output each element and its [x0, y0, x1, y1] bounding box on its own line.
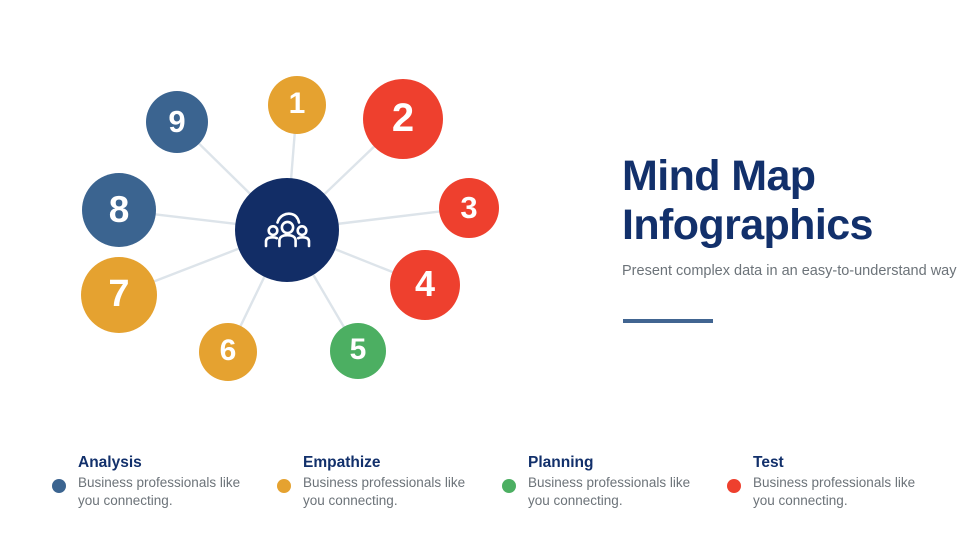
- mind-map-node-9[interactable]: 9: [146, 91, 208, 153]
- slide-canvas: 123456789 Mind Map Infographics Present …: [0, 0, 980, 551]
- legend-dot-icon: [502, 479, 516, 493]
- connector-line-7: [153, 248, 241, 282]
- page-subtitle: Present complex data in an easy-to-under…: [622, 262, 972, 281]
- connector-line-5: [312, 273, 345, 328]
- mind-map-node-5[interactable]: 5: [330, 323, 386, 379]
- node-number-label: 1: [289, 89, 306, 119]
- connector-line-1: [291, 132, 295, 180]
- mind-map-node-1[interactable]: 1: [268, 76, 326, 134]
- node-number-label: 8: [109, 191, 130, 228]
- mind-map-node-6[interactable]: 6: [199, 323, 257, 381]
- connector-line-4: [333, 249, 394, 273]
- page-title: Mind Map Infographics: [622, 152, 972, 250]
- legend-text-block: AnalysisBusiness professionals like you …: [78, 452, 243, 510]
- legend-text-block: TestBusiness professionals like you conn…: [753, 452, 918, 510]
- legend-item-test[interactable]: TestBusiness professionals like you conn…: [727, 452, 952, 510]
- legend-dot-icon: [727, 479, 741, 493]
- legend-text-block: EmpathizeBusiness professionals like you…: [303, 452, 468, 510]
- node-number-label: 2: [392, 98, 414, 138]
- mind-map-diagram: 123456789: [0, 0, 560, 420]
- title-line-1: Mind Map: [622, 152, 815, 200]
- people-group-icon: [261, 210, 313, 250]
- legend-description: Business professionals like you connecti…: [303, 474, 468, 510]
- node-number-label: 5: [350, 335, 367, 365]
- legend: AnalysisBusiness professionals like you …: [52, 452, 952, 510]
- node-number-label: 4: [415, 266, 435, 302]
- legend-title: Test: [753, 452, 918, 473]
- legend-title: Empathize: [303, 452, 468, 473]
- title-line-2: Infographics: [622, 201, 873, 249]
- legend-description: Business professionals like you connecti…: [528, 474, 693, 510]
- mind-map-node-7[interactable]: 7: [81, 257, 157, 333]
- connector-line-3: [337, 211, 442, 224]
- mind-map-hub[interactable]: [235, 178, 339, 282]
- node-number-label: 7: [108, 275, 129, 313]
- legend-description: Business professionals like you connecti…: [78, 474, 243, 510]
- connector-line-2: [323, 145, 375, 195]
- mind-map-node-8[interactable]: 8: [82, 173, 156, 247]
- accent-rule: [623, 319, 713, 323]
- legend-item-analysis[interactable]: AnalysisBusiness professionals like you …: [52, 452, 277, 510]
- connector-line-8: [154, 214, 238, 224]
- legend-item-planning[interactable]: PlanningBusiness professionals like you …: [502, 452, 727, 510]
- legend-text-block: PlanningBusiness professionals like you …: [528, 452, 693, 510]
- connector-line-6: [240, 275, 265, 328]
- mind-map-node-2[interactable]: 2: [363, 79, 443, 159]
- headline-block: Mind Map Infographics Present complex da…: [622, 152, 972, 281]
- mind-map-node-3[interactable]: 3: [439, 178, 499, 238]
- connector-line-9: [198, 142, 252, 195]
- legend-dot-icon: [52, 479, 66, 493]
- mind-map-node-4[interactable]: 4: [390, 250, 460, 320]
- legend-dot-icon: [277, 479, 291, 493]
- legend-description: Business professionals like you connecti…: [753, 474, 918, 510]
- legend-item-empathize[interactable]: EmpathizeBusiness professionals like you…: [277, 452, 502, 510]
- legend-title: Analysis: [78, 452, 243, 473]
- node-number-label: 3: [460, 192, 477, 223]
- legend-title: Planning: [528, 452, 693, 473]
- node-number-label: 6: [220, 336, 237, 366]
- node-number-label: 9: [168, 106, 185, 137]
